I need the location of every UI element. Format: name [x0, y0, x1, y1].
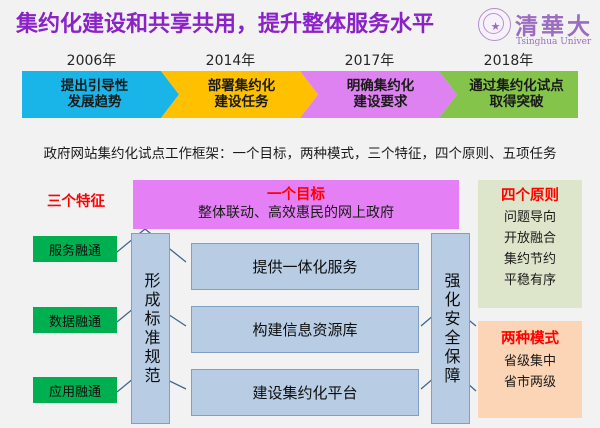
framework-diagram: 一个目标 整体联动、高效惠民的网上政府 三个特征 服务融通 数据融通 应用融通 …	[0, 176, 600, 428]
principle-item: 平稳有序	[504, 270, 556, 291]
modes-panel: 两种模式 省级集中 省市两级	[478, 321, 582, 418]
goal-banner: 一个目标 整体联动、高效惠民的网上政府	[133, 180, 459, 229]
timeline-step-label-line1: 通过集约化试点	[469, 79, 564, 95]
modes-title: 两种模式	[501, 327, 559, 348]
tsinghua-logo: ★ 清華大 Tsinghua Univer	[478, 6, 600, 50]
page-title: 集约化建设和共享共用，提升整体服务水平	[16, 6, 434, 38]
timeline-step-label: 部署集约化建设任务	[208, 79, 276, 111]
feature-chip-data: 数据融通	[33, 307, 117, 333]
goal-title: 一个目标	[267, 188, 325, 204]
mode-item: 省市两级	[504, 372, 556, 393]
principle-item: 开放融合	[504, 228, 556, 249]
timeline-step-label: 通过集约化试点取得突破	[469, 79, 564, 111]
timeline-year-4: 2018年	[439, 50, 578, 70]
timeline-step-label: 明确集约化建设要求	[347, 79, 415, 111]
timeline-year-1: 2006年	[22, 50, 161, 70]
timeline-step-4: 通过集约化试点取得突破	[439, 71, 578, 118]
timeline-step-label-line1: 部署集约化	[208, 79, 276, 95]
timeline-step-label-line2: 取得突破	[469, 95, 564, 111]
timeline-step-label-line1: 明确集约化	[347, 79, 415, 95]
features-heading: 三个特征	[26, 190, 126, 211]
principle-item: 问题导向	[504, 207, 556, 228]
timeline-year-2: 2014年	[161, 50, 300, 70]
timeline-step-label-line2: 发展趋势	[61, 95, 129, 111]
task-box-resource-library: 构建信息资源库	[191, 306, 419, 353]
timeline-step-label: 提出引导性发展趋势	[61, 79, 129, 111]
timeline-step-label-line1: 提出引导性	[61, 79, 129, 95]
feature-chip-service: 服务融通	[33, 236, 117, 262]
task-box-integrated-service: 提供一体化服务	[191, 243, 419, 290]
timeline-step-label-line2: 建设要求	[347, 95, 415, 111]
principle-item: 集约节约	[504, 249, 556, 270]
feature-chip-application: 应用融通	[33, 377, 117, 403]
timeline-step-2: 部署集约化建设任务	[161, 71, 318, 118]
university-seal-icon: ★	[478, 8, 511, 41]
timeline-step-3: 明确集约化建设要求	[300, 71, 457, 118]
timeline-year-3: 2017年	[300, 50, 439, 70]
timeline: 提出引导性发展趋势2006年部署集约化建设任务2014年明确集约化建设要求201…	[0, 46, 600, 124]
task-box-platform: 建设集约化平台	[191, 369, 419, 416]
pillar-security: 强化安全保障	[431, 233, 470, 424]
slide-header: 集约化建设和共享共用，提升整体服务水平 ★ 清華大 Tsinghua Unive…	[0, 0, 600, 46]
timeline-step-1: 提出引导性发展趋势	[22, 71, 179, 118]
principles-title: 四个原则	[501, 184, 559, 205]
goal-subtitle: 整体联动、高效惠民的网上政府	[198, 205, 394, 221]
mode-item: 省级集中	[504, 351, 556, 372]
pillar-standards: 形成标准规范	[131, 233, 170, 424]
pillar-standards-label: 形成标准规范	[143, 272, 159, 386]
star-icon: ★	[490, 21, 501, 32]
framework-subtitle: 政府网站集约化试点工作框架：一个目标，两种模式，三个特征，四个原则、五项任务	[0, 142, 600, 162]
timeline-step-label-line2: 建设任务	[208, 95, 276, 111]
pillar-security-label: 强化安全保障	[443, 272, 459, 386]
principles-panel: 四个原则 问题导向 开放融合 集约节约 平稳有序	[478, 180, 582, 308]
logo-wordmark: 清華大	[515, 7, 593, 41]
